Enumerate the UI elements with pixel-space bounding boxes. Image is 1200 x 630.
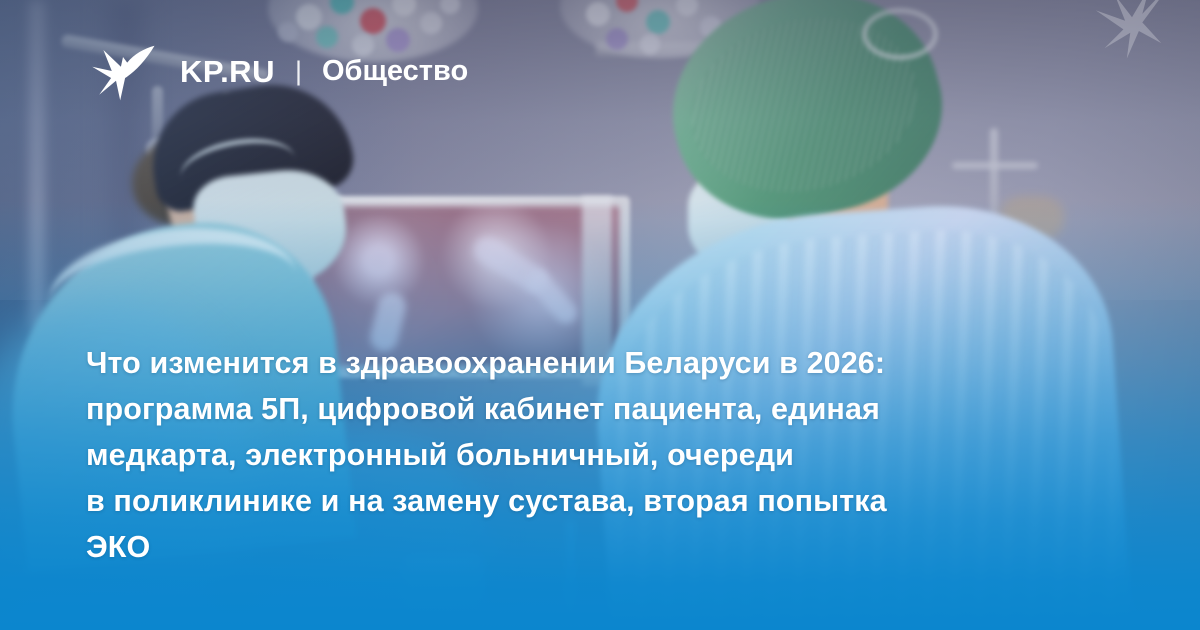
- headline-line: в поликлинике и на замену сустава, втора…: [86, 478, 1130, 524]
- headline-line: медкарта, электронный больничный, очеред…: [86, 432, 1130, 478]
- headline-line: ЭКО: [86, 524, 1130, 570]
- kp-swallow-bird-watermark-icon: [1068, 0, 1196, 62]
- headline-line: программа 5П, цифровой кабинет пациента,…: [86, 386, 1130, 432]
- share-card: KP.RU | Общество Что изменится в здравоо…: [0, 0, 1200, 630]
- headline-line: Что изменится в здравоохранении Беларуси…: [86, 340, 1130, 386]
- headline: Что изменится в здравоохранении Беларуси…: [86, 340, 1130, 570]
- kp-swallow-bird-icon[interactable]: [86, 36, 160, 106]
- brand-header: KP.RU | Общество: [86, 36, 468, 106]
- rubric-label[interactable]: Общество: [322, 57, 468, 86]
- brand-name[interactable]: KP.RU: [180, 56, 275, 87]
- header-divider: |: [295, 58, 302, 85]
